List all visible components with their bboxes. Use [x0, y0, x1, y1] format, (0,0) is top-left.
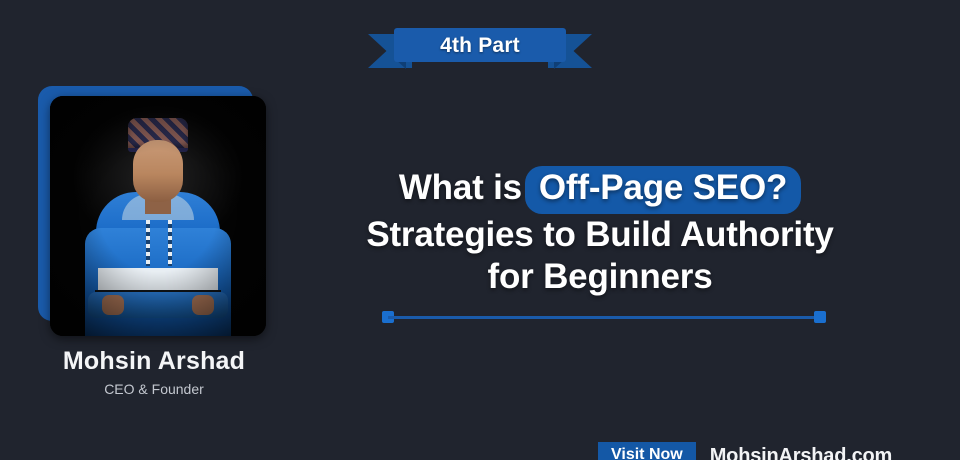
headline-line-3: for Beginners — [300, 256, 900, 299]
ribbon-banner: 4th Part — [368, 28, 592, 70]
ribbon-label: 4th Part — [440, 35, 520, 56]
divider-cap-right — [814, 311, 826, 323]
author-block: Mohsin Arshad CEO & Founder — [38, 348, 270, 397]
drawstring-right — [168, 220, 172, 266]
headline-prefix: What is — [399, 168, 522, 207]
headline-line-2: Strategies to Build Authority — [300, 214, 900, 257]
page-title: What isOff-Page SEO? Strategies to Build… — [300, 166, 900, 299]
face — [133, 140, 183, 202]
footer-bar: Visit Now MohsinArshad.com — [598, 442, 892, 460]
hand-right — [192, 295, 214, 315]
divider — [382, 311, 826, 323]
site-url-label: MohsinArshad.com — [710, 446, 892, 460]
headline-highlight: Off-Page SEO? — [525, 166, 801, 214]
portrait-card — [50, 96, 266, 336]
hand-left — [102, 295, 124, 315]
divider-line — [388, 316, 820, 319]
author-name: Mohsin Arshad — [38, 348, 270, 376]
author-role: CEO & Founder — [38, 382, 270, 397]
visit-now-button[interactable]: Visit Now — [598, 442, 696, 460]
avatar — [50, 96, 266, 336]
hoodie-white-stripe — [98, 268, 218, 290]
ribbon-body: 4th Part — [394, 28, 566, 62]
headline-line-1: What isOff-Page SEO? — [300, 166, 900, 214]
drawstring-left — [146, 220, 150, 266]
portrait-container — [38, 86, 268, 338]
thumbnail-canvas: 4th Part Mohsin — [0, 0, 960, 460]
